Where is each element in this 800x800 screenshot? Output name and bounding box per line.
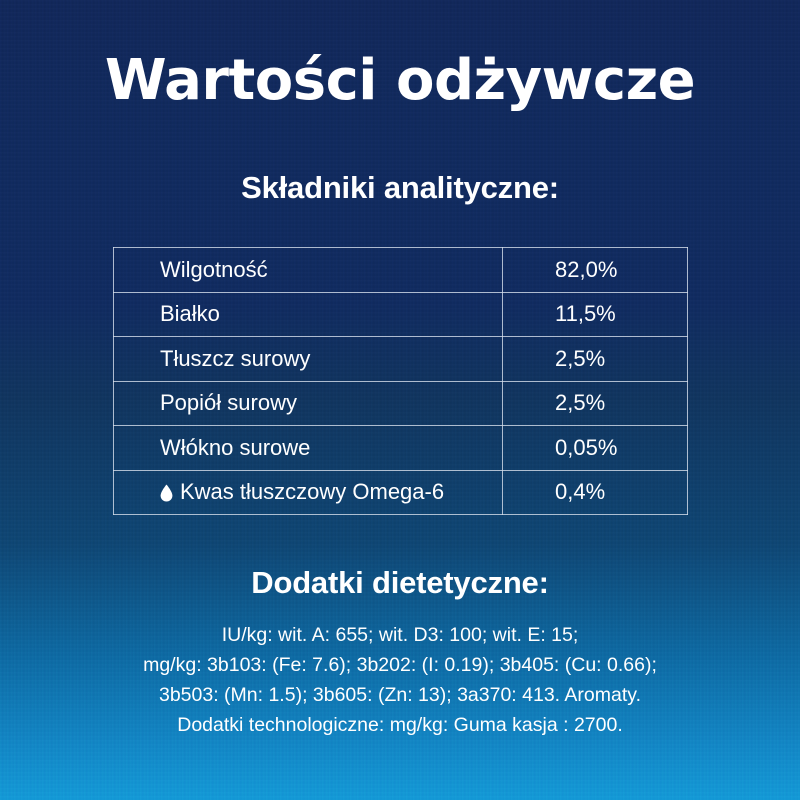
nutrient-value: 2,5% [555,390,605,415]
nutrient-value-cell: 2,5% [503,381,688,426]
nutrient-label: Włókno surowe [160,435,310,460]
table-row: Włókno surowe0,05% [114,426,688,471]
table-row: Tłuszcz surowy2,5% [114,337,688,382]
additives-line: mg/kg: 3b103: (Fe: 7.6); 3b202: (I: 0.19… [0,650,800,680]
nutrient-label-cell: Tłuszcz surowy [114,337,503,382]
additives-line: Dodatki technologiczne: mg/kg: Guma kasj… [0,710,800,740]
nutrient-value-cell: 2,5% [503,337,688,382]
nutrient-label-cell: Kwas tłuszczowy Omega-6 [114,470,503,515]
page-title: Wartości odżywcze [0,50,800,112]
nutrient-label-cell: Włókno surowe [114,426,503,471]
nutrient-value-cell: 0,4% [503,470,688,515]
nutrient-label: Wilgotność [160,257,268,282]
nutrient-value: 0,4% [555,479,605,504]
nutrient-value: 82,0% [555,257,617,282]
nutrient-value-cell: 0,05% [503,426,688,471]
nutrient-label: Białko [160,301,220,326]
table-row: Białko11,5% [114,292,688,337]
additives-line: 3b503: (Mn: 1.5); 3b605: (Zn: 13); 3a370… [0,680,800,710]
nutrient-value-cell: 11,5% [503,292,688,337]
table-row: Wilgotność82,0% [114,248,688,293]
nutrition-panel: Wartości odżywcze Składniki analityczne:… [0,0,800,800]
table-row: Kwas tłuszczowy Omega-60,4% [114,470,688,515]
nutrient-label: Tłuszcz surowy [160,346,310,371]
nutrient-value-cell: 82,0% [503,248,688,293]
nutrient-value: 0,05% [555,435,617,460]
nutrient-value: 11,5% [555,301,616,326]
analytical-composition-table: Wilgotność82,0%Białko11,5%Tłuszcz surowy… [113,247,688,515]
additives-text-block: IU/kg: wit. A: 655; wit. D3: 100; wit. E… [0,620,800,740]
analytical-section-heading: Składniki analityczne: [0,170,800,206]
droplet-icon [160,484,173,502]
nutrient-label-cell: Wilgotność [114,248,503,293]
nutrient-label: Kwas tłuszczowy Omega-6 [180,479,444,504]
additives-line: IU/kg: wit. A: 655; wit. D3: 100; wit. E… [0,620,800,650]
nutrient-label-cell: Białko [114,292,503,337]
nutrient-label-cell: Popiół surowy [114,381,503,426]
nutrient-label: Popiół surowy [160,390,297,415]
additives-section-heading: Dodatki dietetyczne: [0,565,800,601]
table-row: Popiół surowy2,5% [114,381,688,426]
nutrient-value: 2,5% [555,346,605,371]
